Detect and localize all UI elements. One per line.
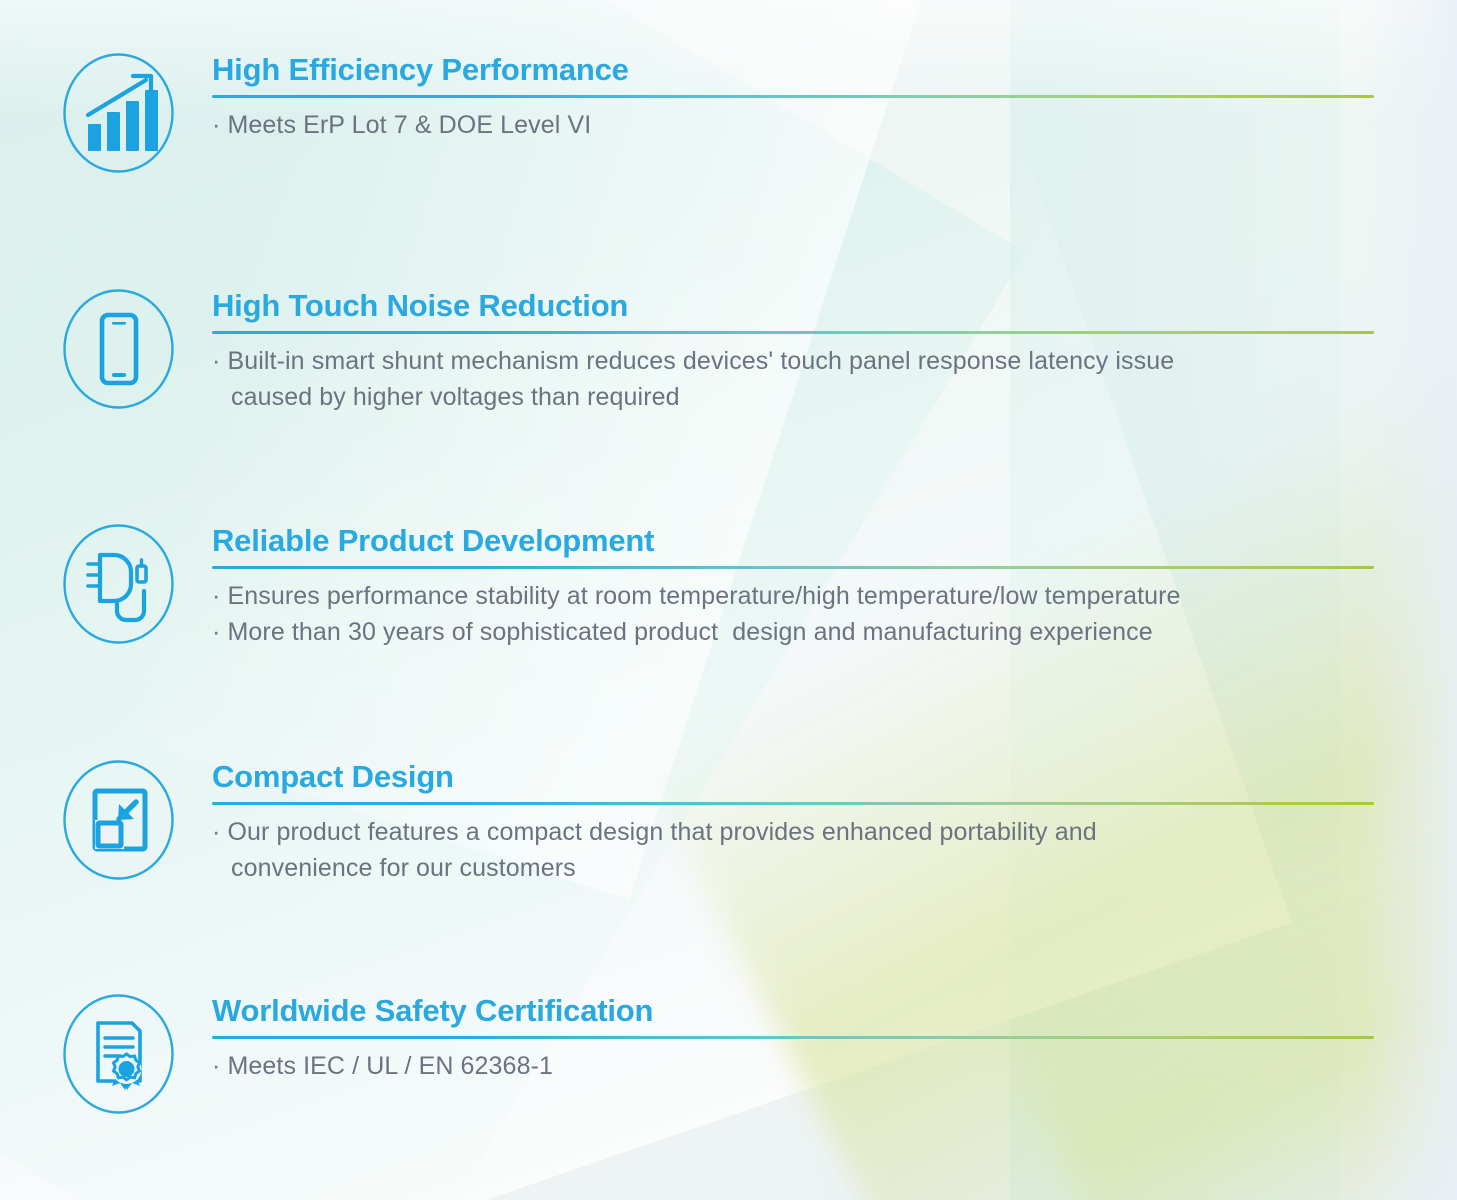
feature-content: High Efficiency Performance· Meets ErP L…: [212, 52, 1377, 143]
power-adapter-icon: [62, 523, 175, 645]
growth-chart-icon: [62, 52, 175, 174]
feature-content: High Touch Noise Reduction· Built-in sma…: [212, 288, 1377, 415]
feature-body-line: · Meets ErP Lot 7 & DOE Level VI: [212, 107, 1377, 143]
feature-body-line: · Our product features a compact design …: [212, 814, 1377, 850]
feature-body-line: caused by higher voltages than required: [212, 379, 1377, 415]
feature-body: · Meets IEC / UL / EN 62368-1: [212, 1039, 1377, 1084]
feature-content: Worldwide Safety Certification· Meets IE…: [212, 993, 1377, 1084]
feature-body: · Built-in smart shunt mechanism reduces…: [212, 334, 1377, 415]
feature-body-line: convenience for our customers: [212, 850, 1377, 886]
feature-title: Worldwide Safety Certification: [212, 993, 1377, 1030]
feature-body: · Meets ErP Lot 7 & DOE Level VI: [212, 98, 1377, 143]
feature-title: High Touch Noise Reduction: [212, 288, 1377, 325]
feature-body: · Our product features a compact design …: [212, 805, 1377, 886]
feature-title: Reliable Product Development: [212, 523, 1377, 560]
feature-body: · Ensures performance stability at room …: [212, 569, 1377, 650]
feature-content: Reliable Product Development· Ensures pe…: [212, 523, 1377, 650]
smartphone-icon: [62, 288, 175, 410]
feature-body-line: · Built-in smart shunt mechanism reduces…: [212, 343, 1377, 379]
feature-content: Compact Design· Our product features a c…: [212, 759, 1377, 886]
feature-title: High Efficiency Performance: [212, 52, 1377, 89]
feature-title: Compact Design: [212, 759, 1377, 796]
feature-body-line: · More than 30 years of sophisticated pr…: [212, 614, 1377, 650]
certificate-seal-icon: [62, 993, 175, 1115]
feature-body-line: · Ensures performance stability at room …: [212, 578, 1377, 614]
compact-resize-icon: [62, 759, 175, 881]
feature-body-line: · Meets IEC / UL / EN 62368-1: [212, 1048, 1377, 1084]
